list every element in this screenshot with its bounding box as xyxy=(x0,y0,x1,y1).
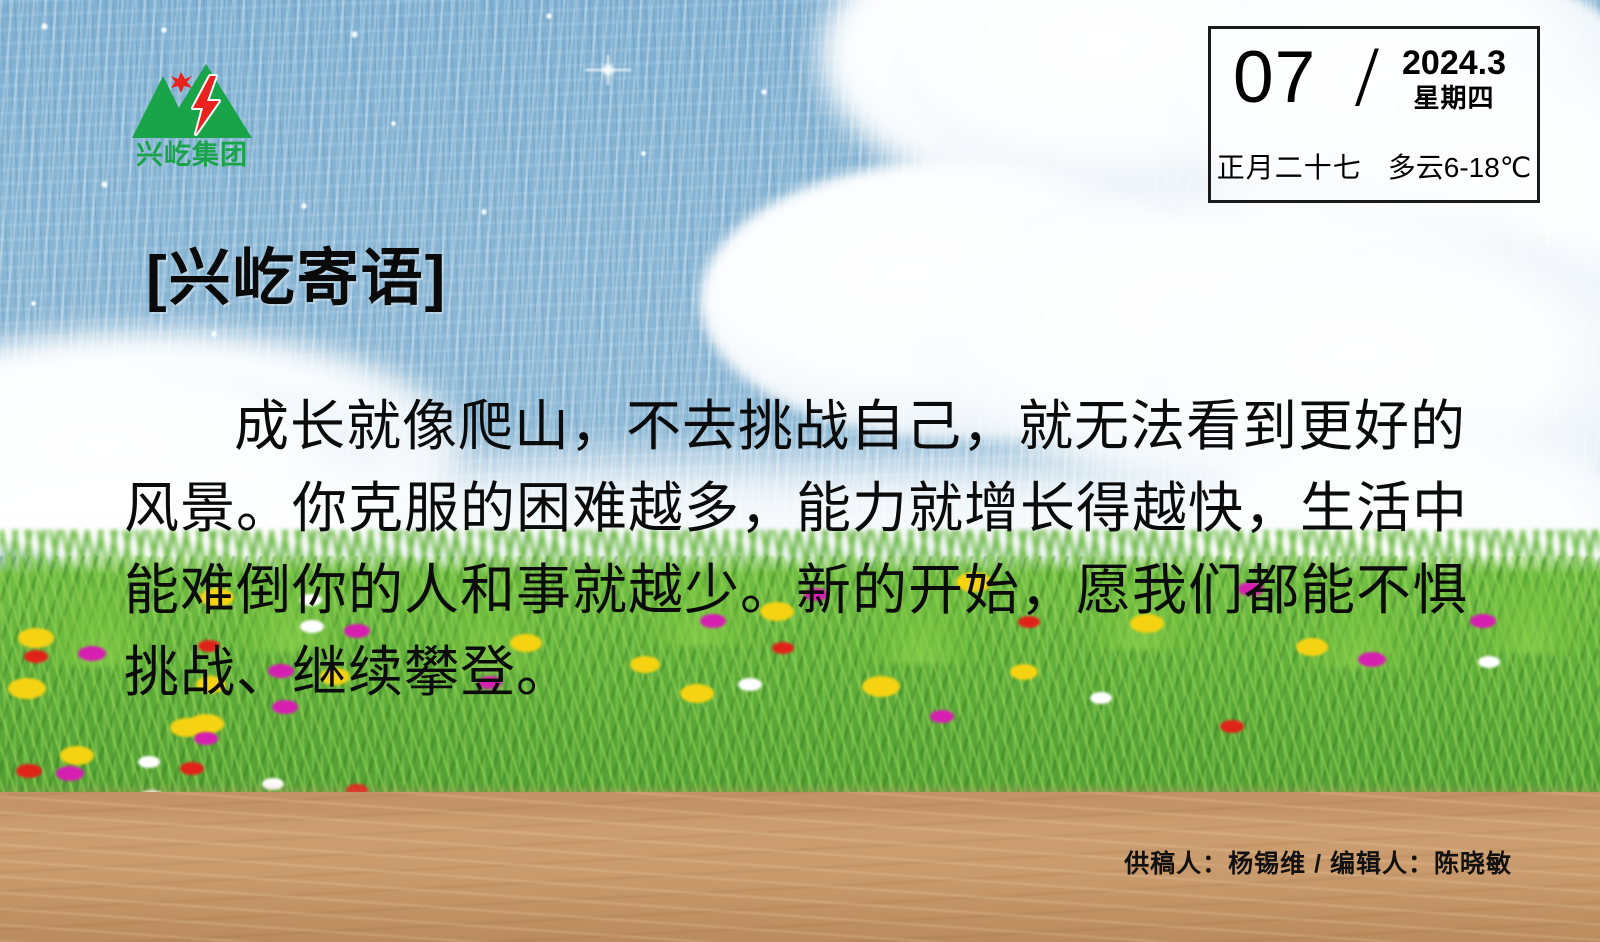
company-logo[interactable]: 兴屹集团 xyxy=(118,52,268,174)
flower xyxy=(60,746,94,765)
flower xyxy=(24,650,48,663)
date-year-month: 2024.3 xyxy=(1379,45,1529,82)
flower xyxy=(8,678,46,699)
grass-tuft xyxy=(1470,564,1590,654)
date-card-top-row: 07 / 2024.3 星期四 xyxy=(1211,29,1537,147)
date-weekday: 星期四 xyxy=(1379,82,1529,116)
flower xyxy=(138,756,160,768)
message-body: 成长就像爬山，不去挑战自己，就无法看到更好的 风景。你克服的困难越多，能力就增长… xyxy=(124,386,1476,714)
lunar-date: 正月二十七 xyxy=(1217,146,1362,186)
date-card-right: 2024.3 星期四 xyxy=(1379,45,1529,116)
date-separator: / xyxy=(1355,33,1379,119)
star-icon xyxy=(171,72,192,93)
flower xyxy=(18,628,54,648)
date-day: 07 xyxy=(1233,41,1316,114)
flower xyxy=(1478,656,1500,668)
flower xyxy=(1220,720,1244,733)
body-line: 挑战、继续攀登。 xyxy=(124,632,1476,714)
flower xyxy=(78,646,106,661)
body-line: 风景。你克服的困难越多，能力就增长得越快，生活中 xyxy=(124,468,1476,550)
page-title: [兴屹寄语] xyxy=(146,248,447,310)
body-line: 能难倒你的人和事就越少。新的开始，愿我们都能不惧 xyxy=(124,550,1476,632)
credits-line: 供稿人：杨锡维 / 编辑人：陈晓敏 xyxy=(1124,844,1512,880)
date-card-bottom-row: 正月二十七 多云6-18℃ xyxy=(1211,146,1537,186)
daily-poster: 兴屹集团 07 / 2024.3 星期四 正月二十七 多云6-18℃ [兴屹寄语… xyxy=(0,0,1600,942)
body-line: 成长就像爬山，不去挑战自己，就无法看到更好的 xyxy=(124,386,1476,468)
logo-wordmark: 兴屹集团 xyxy=(136,139,248,170)
date-card: 07 / 2024.3 星期四 正月二十七 多云6-18℃ xyxy=(1208,26,1540,203)
weather-info: 多云6-18℃ xyxy=(1388,146,1532,186)
flower xyxy=(194,732,218,745)
